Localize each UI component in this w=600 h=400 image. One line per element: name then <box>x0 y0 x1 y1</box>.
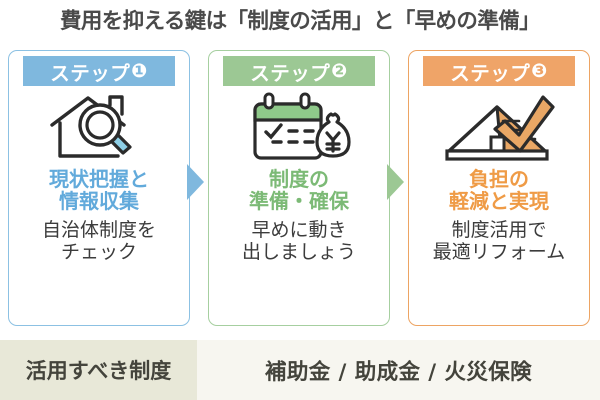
step-sub-1: 自治体制度を チェック <box>42 219 156 264</box>
step-heading-3-line2: 軽減と実現 <box>449 190 549 212</box>
step-badge-3: ステップ❸ <box>423 56 575 86</box>
step-sub-3-line1: 制度活用で <box>433 219 565 241</box>
step-badge-1: ステップ❶ <box>23 56 175 86</box>
bottom-label: 活用すべき制度 <box>0 340 197 400</box>
step-sub-2-line2: 出しましょう <box>242 241 356 263</box>
step-heading-1-line2: 情報収集 <box>49 190 149 212</box>
step-heading-3: 負担の 軽減と実現 <box>449 168 549 213</box>
step-heading-1-line1: 現状把握と <box>49 168 149 190</box>
calendar-moneybag-icon <box>209 90 389 166</box>
step-badge-label-3: ステップ <box>450 57 530 86</box>
bottom-value: 補助金 / 助成金 / 火災保険 <box>197 340 600 400</box>
bottom-summary-bar: 活用すべき制度 補助金 / 助成金 / 火災保険 <box>0 340 600 400</box>
step-badge-number-1: ❶ <box>131 60 148 82</box>
step-heading-2-line1: 制度の <box>249 168 349 190</box>
step-heading-1: 現状把握と 情報収集 <box>49 168 149 213</box>
arrow-step1-to-step2 <box>187 164 204 200</box>
step-badge-label-2: ステップ <box>250 57 330 86</box>
step-badge-2: ステップ❷ <box>223 56 375 86</box>
infographic-page: 費用を抑える鍵は「制度の活用」と「早めの準備」 ステップ❶ <box>0 0 600 400</box>
step-sub-3-line2: 最適リフォーム <box>433 241 565 263</box>
step-sub-1-line1: 自治体制度を <box>42 219 156 241</box>
page-title: 費用を抑える鍵は「制度の活用」と「早めの準備」 <box>0 2 600 36</box>
step-sub-3: 制度活用で 最適リフォーム <box>433 219 565 264</box>
steps-container: ステップ❶ 現状把握と 情報収集 自治体制度 <box>0 50 600 328</box>
step-card-1: ステップ❶ 現状把握と 情報収集 自治体制度 <box>8 50 190 326</box>
step-sub-2-line1: 早めに動き <box>242 219 356 241</box>
arrow-step2-to-step3 <box>387 164 404 200</box>
step-sub-2: 早めに動き 出しましょう <box>242 219 356 264</box>
step-heading-2: 制度の 準備・確保 <box>249 168 349 213</box>
step-badge-number-2: ❷ <box>331 60 348 82</box>
step-heading-2-line2: 準備・確保 <box>249 190 349 212</box>
step-heading-3-line1: 負担の <box>449 168 549 190</box>
house-magnifier-icon <box>9 90 189 166</box>
step-badge-number-3: ❸ <box>531 60 548 82</box>
step-card-2: ステップ❷ <box>208 50 390 326</box>
roof-check-icon <box>409 90 589 166</box>
step-badge-label-1: ステップ <box>50 57 130 86</box>
step-sub-1-line2: チェック <box>42 241 156 263</box>
step-card-3: ステップ❸ <box>408 50 590 326</box>
